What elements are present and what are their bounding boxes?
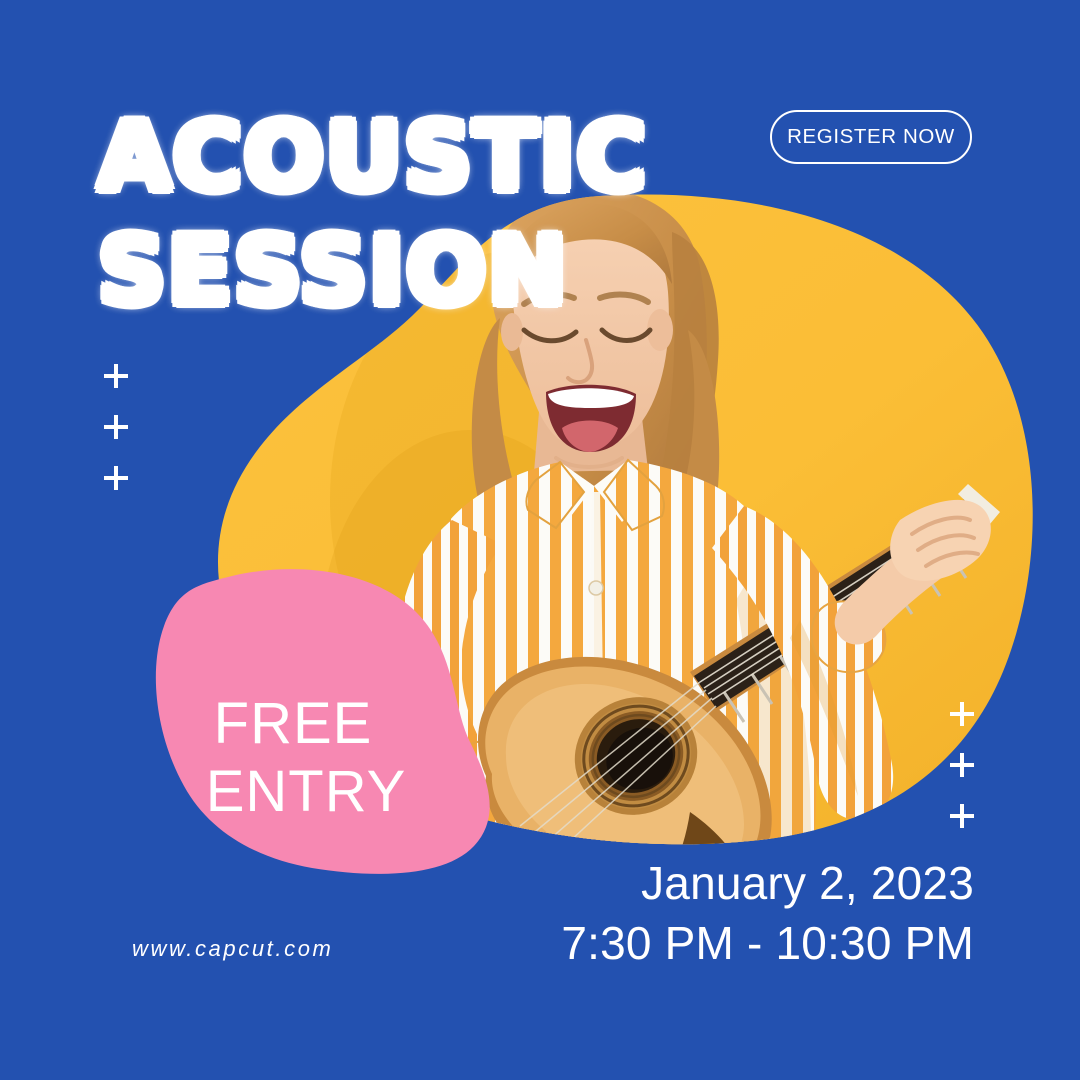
plus-decoration-icon [950, 753, 974, 777]
event-details: January 2, 2023 7:30 PM - 10:30 PM [561, 854, 974, 972]
plus-decoration-icon [104, 364, 128, 388]
website-url[interactable]: www.capcut.com [132, 936, 333, 962]
register-now-button[interactable]: REGISTER NOW [770, 110, 972, 164]
plus-decoration-icon [104, 466, 128, 490]
plus-decoration-icon [104, 415, 128, 439]
headline-line-2: SESSION [98, 218, 648, 326]
free-entry-line-1: FREE [168, 690, 418, 758]
page-title: ACOUSTIC SESSION [98, 104, 648, 326]
free-entry-badge: FREE ENTRY [168, 690, 418, 826]
plus-decoration-icon [950, 702, 974, 726]
free-entry-line-2: ENTRY [168, 758, 418, 826]
headline-line-1: ACOUSTIC [98, 104, 648, 212]
poster-canvas: ACOUSTIC SESSION REGISTER NOW FREE ENTRY… [0, 0, 1080, 1080]
event-date: January 2, 2023 [561, 854, 974, 912]
event-time: 7:30 PM - 10:30 PM [561, 914, 974, 972]
plus-decoration-icon [950, 804, 974, 828]
